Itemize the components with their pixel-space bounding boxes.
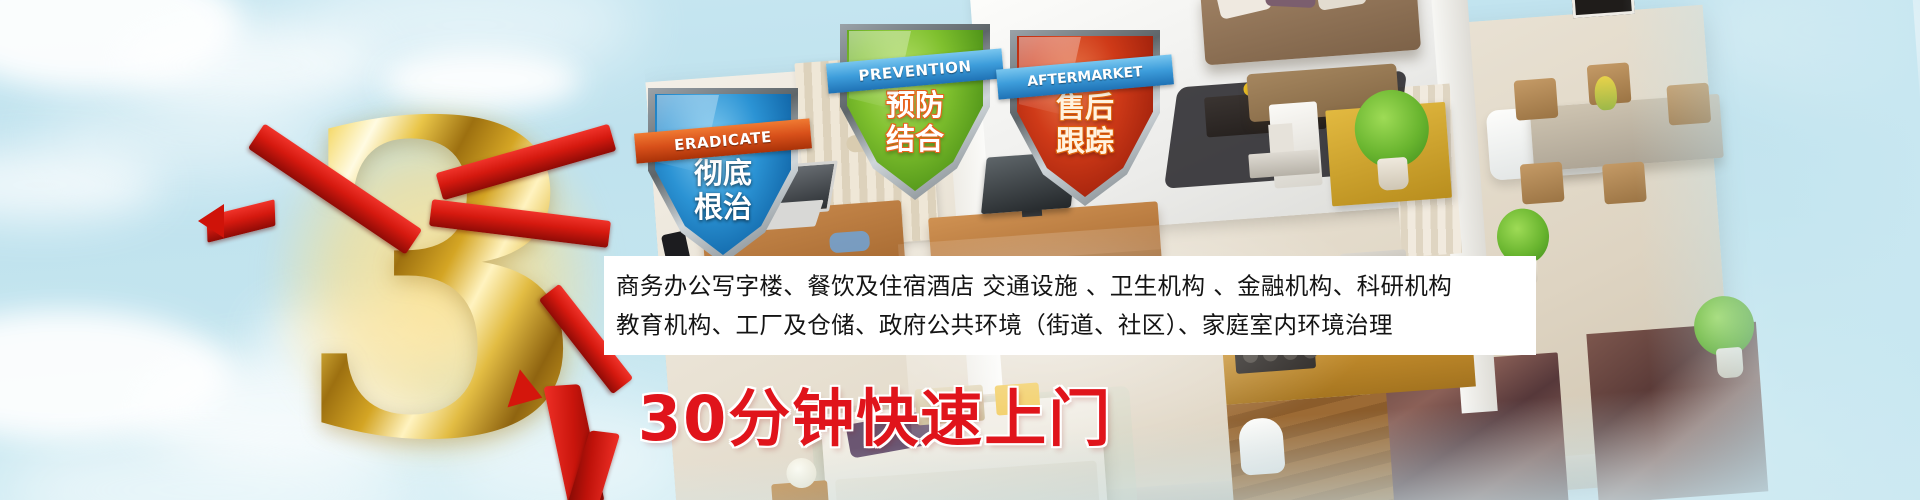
potted-plant-pot — [1377, 157, 1409, 191]
badge-chinese-line2: 跟踪 — [1010, 126, 1160, 157]
badge-chinese-line1: 彻底 — [648, 158, 798, 189]
service-scope-line-1: 商务办公写字楼、餐饮及住宿酒店 交通设施 、卫生机构 、金融机构、科研机构 — [616, 267, 1536, 305]
promotional-banner: 3 彻底 根治 ERADICATE 预防 结合 PREVENTION 售后 跟踪… — [0, 0, 1920, 500]
badge-prevention: 预防 结合 PREVENTION — [840, 24, 990, 200]
badge-chinese-line1: 售后 — [1010, 92, 1160, 123]
badge-chinese-line2: 结合 — [840, 124, 990, 155]
badge-chinese-line1: 预防 — [840, 90, 990, 121]
service-scope-line-2: 教育机构、工厂及仓储、政府公共环境（街道、社区）、家庭室内环境治理 — [616, 306, 1536, 344]
badge-chinese-line2: 根治 — [648, 192, 798, 223]
service-scope-panel: 商务办公写字楼、餐饮及住宿酒店 交通设施 、卫生机构 、金融机构、科研机构 教育… — [604, 256, 1536, 355]
mouse-pad — [829, 230, 870, 253]
dining-chair — [1514, 78, 1559, 121]
cloud-decoration — [0, 0, 240, 90]
cloud-decoration — [0, 310, 230, 440]
golden-three-graphic: 3 — [258, 88, 618, 478]
range-hood — [1248, 149, 1320, 178]
badge-eradicate: 彻底 根治 ERADICATE — [648, 88, 798, 264]
badge-aftermarket: 售后 跟踪 AFTERMARKET — [1010, 30, 1160, 206]
cloud-decoration — [0, 150, 160, 220]
ribbon-arrow-icon — [198, 204, 224, 238]
dining-chair — [1520, 162, 1565, 205]
headline-text: 30分钟快速上门 — [638, 368, 1112, 458]
